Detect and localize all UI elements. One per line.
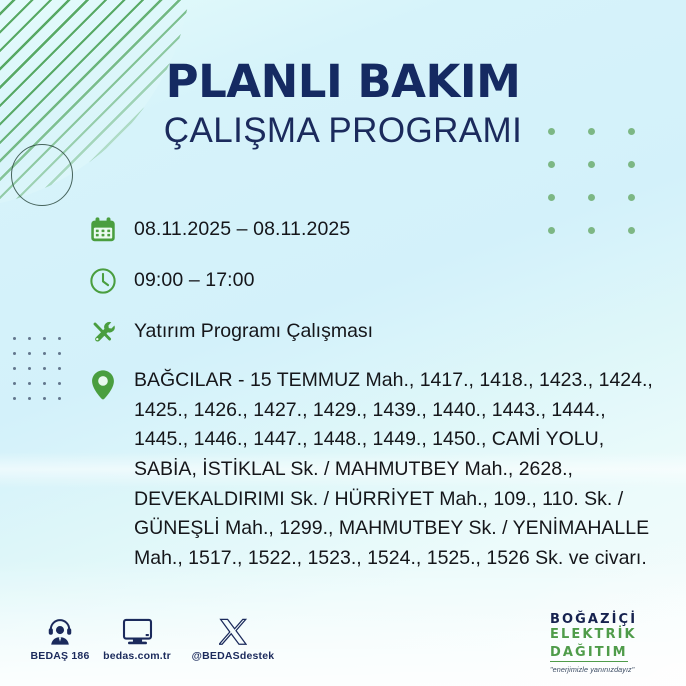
page-subtitle: ÇALIŞMA PROGRAMI: [0, 112, 686, 151]
calendar-icon: [88, 212, 134, 248]
headset-support-icon: [22, 614, 98, 646]
logo-line-dagitim: DAĞITIM: [550, 645, 628, 662]
location-pin-icon: [88, 365, 134, 405]
info-list: 08.11.2025 – 08.11.2025 09:00 – 17:00: [88, 212, 664, 573]
monitor-website-icon: [92, 614, 182, 646]
planned-maintenance-poster: PLANLI BAKIM ÇALIŞMA PROGRAMI: [0, 0, 686, 686]
poster-header: PLANLI BAKIM ÇALIŞMA PROGRAMI: [0, 58, 686, 150]
date-range-text: 08.11.2025 – 08.11.2025: [134, 212, 350, 244]
info-row-time: 09:00 – 17:00: [88, 263, 664, 299]
footer-label-call-center: BEDAŞ 186: [31, 650, 90, 662]
info-row-work-type: Yatırım Programı Çalışması: [88, 314, 664, 350]
x-twitter-icon: [178, 614, 288, 646]
footer-item-website[interactable]: bedas.com.tr: [92, 614, 182, 662]
dot-grid-left-decoration: [13, 337, 73, 412]
footer-label-website: bedas.com.tr: [103, 650, 171, 662]
logo-tagline: "enerjimizle yanınızdayız": [550, 665, 672, 674]
page-title: PLANLI BAKIM: [0, 58, 686, 106]
logo-line-bogazici: BOĞAZİÇİ: [550, 612, 672, 627]
tools-icon: [88, 314, 134, 350]
bedas-logo: BOĞAZİÇİ ELEKTRİK DAĞITIM "enerjimizle y…: [550, 612, 672, 674]
time-range-text: 09:00 – 17:00: [134, 263, 255, 295]
logo-line-elektrik: ELEKTRİK: [550, 627, 672, 642]
info-row-date: 08.11.2025 – 08.11.2025: [88, 212, 664, 248]
footer-item-x-account[interactable]: @BEDASdestek: [178, 614, 288, 662]
work-type-text: Yatırım Programı Çalışması: [134, 314, 373, 346]
info-row-location: BAĞCILAR - 15 TEMMUZ Mah., 1417., 1418.,…: [88, 365, 664, 573]
location-text: BAĞCILAR - 15 TEMMUZ Mah., 1417., 1418.,…: [134, 365, 662, 573]
poster-footer: BEDAŞ 186 bedas.com.tr @BEDASdestek: [0, 604, 686, 686]
circle-outline-decoration: [11, 144, 73, 206]
clock-icon: [88, 263, 134, 299]
footer-item-call-center[interactable]: BEDAŞ 186: [22, 614, 98, 662]
footer-label-x-account: @BEDASdestek: [192, 650, 275, 662]
